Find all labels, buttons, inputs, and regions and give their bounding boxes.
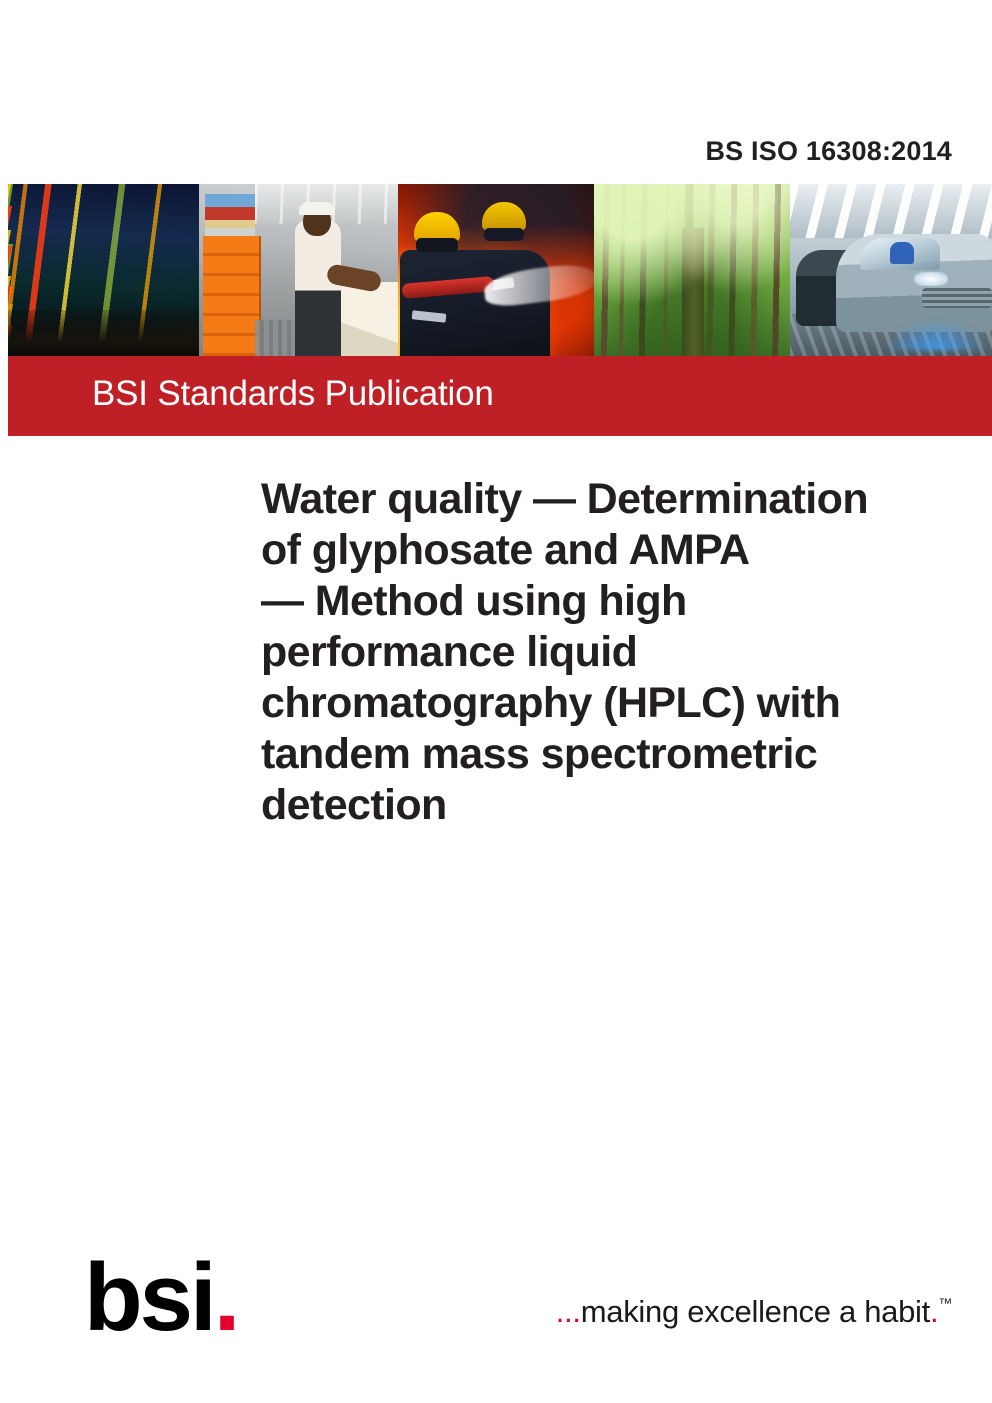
bsi-tagline: ...making excellence a habit.™ [556, 1294, 952, 1330]
bsi-standards-banner: BSI Standards Publication [8, 356, 992, 436]
title-line: — Method using high [261, 576, 941, 627]
bsi-logo: bsi. [84, 1250, 237, 1346]
photo-panel-firefighters [398, 184, 594, 356]
warehouse-worker-cap [299, 202, 335, 215]
forest-canopy-light [594, 184, 790, 356]
firefighter-visor-rear [484, 228, 524, 241]
bsi-logo-wordmark: bsi [84, 1244, 214, 1351]
title-line: Water quality — Determination [261, 474, 941, 525]
warehouse-crates-top [205, 194, 255, 238]
photo-panel-night-traffic-light-trails [8, 184, 199, 356]
car-driver-seat [890, 242, 914, 264]
car-headlight [914, 272, 948, 286]
photo-panel-forest [594, 184, 790, 356]
title-line: detection [261, 780, 941, 831]
page-title: Water quality — Determination of glyphos… [261, 474, 941, 831]
factory-ceiling-lights [790, 184, 992, 238]
car-grille [922, 288, 992, 308]
tagline-text: making excellence a habit [581, 1294, 930, 1329]
trademark-icon: ™ [938, 1295, 952, 1311]
warehouse-crates [203, 236, 261, 356]
photo-panel-warehouse-worker [199, 184, 398, 356]
assembly-line-glow [882, 320, 990, 350]
warehouse-worker-body [295, 220, 341, 356]
bsi-logo-dot: . [214, 1244, 238, 1351]
photo-panel-car-assembly-line [790, 184, 992, 356]
standard-number: BS ISO 16308:2014 [0, 136, 952, 167]
title-line: tandem mass spectrometric [261, 729, 941, 780]
title-line: chromatography (HPLC) with [261, 678, 941, 729]
title-line: performance liquid [261, 627, 941, 678]
cover-photo-strip [8, 184, 992, 356]
banner-label: BSI Standards Publication [92, 374, 494, 414]
tagline-leading-dots: ... [556, 1294, 581, 1329]
firefighter-visor-front [416, 238, 458, 252]
title-line: of glyphosate and AMPA [261, 525, 941, 576]
